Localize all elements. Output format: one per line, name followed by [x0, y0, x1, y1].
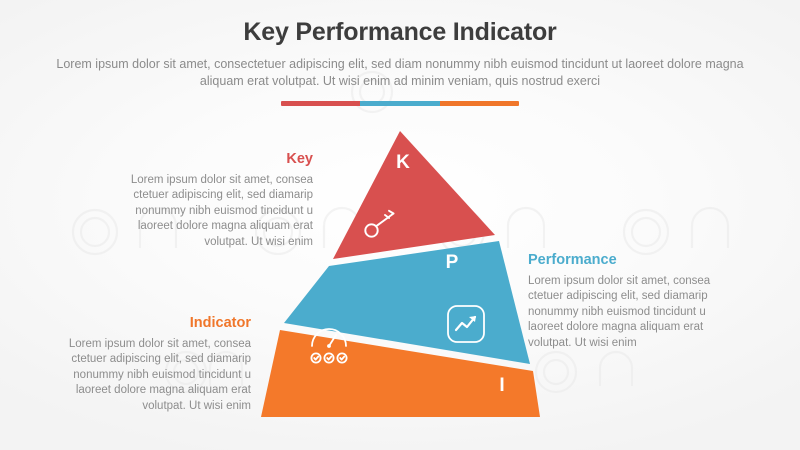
block-body-performance: Lorem ipsum dolor sit amet, consea ctetu…	[528, 274, 740, 351]
page-subtitle: Lorem ipsum dolor sit amet, consectetuer…	[55, 56, 745, 90]
text-block-performance: Performance Lorem ipsum dolor sit amet, …	[528, 253, 740, 351]
divider-segment-red	[281, 101, 360, 106]
accent-divider	[281, 101, 519, 106]
pyramid-slice-key[interactable]: K	[333, 131, 495, 259]
divider-segment-blue	[360, 101, 439, 106]
infographic-page: Key Performance Indicator Lorem ipsum do…	[0, 0, 800, 450]
block-body-indicator: Lorem ipsum dolor sit amet, consea ctetu…	[46, 337, 251, 414]
slice-letter-key: K	[396, 152, 410, 173]
slice-letter-performance: P	[446, 252, 459, 273]
text-block-key: Key Lorem ipsum dolor sit amet, consea c…	[108, 152, 313, 250]
block-heading-performance: Performance	[528, 253, 740, 269]
block-body-key: Lorem ipsum dolor sit amet, consea ctetu…	[108, 173, 313, 250]
slice-letter-indicator: I	[499, 375, 504, 396]
block-heading-key: Key	[108, 152, 313, 168]
text-block-indicator: Indicator Lorem ipsum dolor sit amet, co…	[46, 316, 251, 414]
block-heading-indicator: Indicator	[46, 316, 251, 332]
page-title: Key Performance Indicator	[0, 18, 800, 47]
divider-segment-orange	[440, 101, 519, 106]
header: Key Performance Indicator Lorem ipsum do…	[0, 18, 800, 106]
